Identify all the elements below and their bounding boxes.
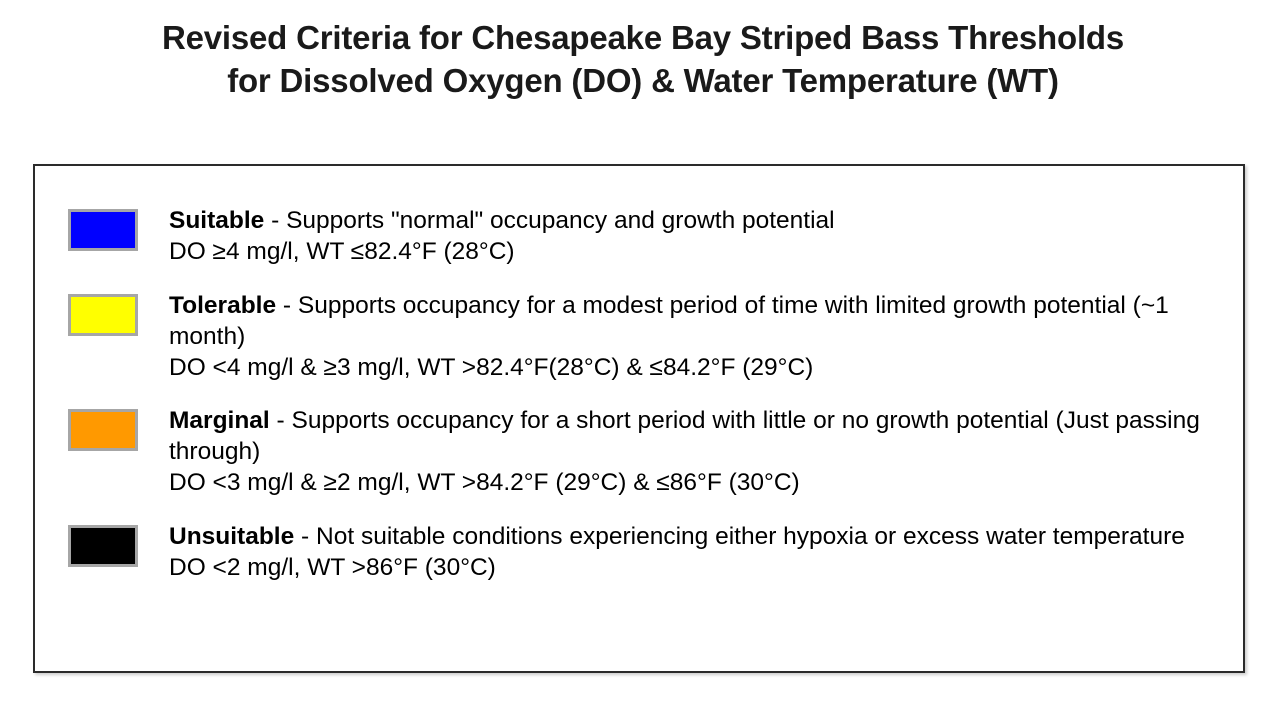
legend-condition-tolerable: DO <4 mg/l & ≥3 mg/l, WT >82.4°F(28°C) &… [169,352,1229,383]
legend-item-text-unsuitable: Unsuitable - Not suitable conditions exp… [169,521,1229,583]
legend-description-unsuitable: Unsuitable - Not suitable conditions exp… [169,521,1229,552]
legend-condition-unsuitable: DO <2 mg/l, WT >86°F (30°C) [169,552,1229,583]
legend-desc-text-unsuitable: Not suitable conditions experiencing eit… [316,523,1185,550]
legend-panel: Suitable - Supports "normal" occupancy a… [33,164,1245,673]
legend-separator-unsuitable: - [294,523,316,550]
page-title: Revised Criteria for Chesapeake Bay Stri… [0,16,1286,102]
legend-condition-marginal: DO <3 mg/l & ≥2 mg/l, WT >84.2°F (29°C) … [169,467,1229,498]
color-swatch-unsuitable [68,525,138,567]
legend-separator-suitable: - [264,207,286,234]
legend-desc-text-suitable: Supports "normal" occupancy and growth p… [286,207,835,234]
page-title-line-1: Revised Criteria for Chesapeake Bay Stri… [0,16,1286,59]
legend-item-text-marginal: Marginal - Supports occupancy for a shor… [169,405,1229,498]
legend-separator-marginal: - [270,407,292,434]
legend-list: Suitable - Supports "normal" occupancy a… [35,166,1243,671]
page-title-line-2: for Dissolved Oxygen (DO) & Water Temper… [0,59,1286,102]
legend-term-suitable: Suitable [169,207,264,234]
legend-description-tolerable: Tolerable - Supports occupancy for a mod… [169,290,1229,352]
legend-desc-text-marginal: Supports occupancy for a short period wi… [169,407,1200,465]
legend-term-unsuitable: Unsuitable [169,523,294,550]
legend-desc-text-tolerable: Supports occupancy for a modest period o… [169,292,1169,350]
legend-item-text-tolerable: Tolerable - Supports occupancy for a mod… [169,290,1229,383]
legend-separator-tolerable: - [276,292,298,319]
legend-description-suitable: Suitable - Supports "normal" occupancy a… [169,205,1229,236]
color-swatch-marginal [68,409,138,451]
legend-description-marginal: Marginal - Supports occupancy for a shor… [169,405,1229,467]
legend-term-tolerable: Tolerable [169,292,276,319]
legend-item-text-suitable: Suitable - Supports "normal" occupancy a… [169,205,1229,267]
color-swatch-suitable [68,209,138,251]
color-swatch-tolerable [68,294,138,336]
legend-condition-suitable: DO ≥4 mg/l, WT ≤82.4°F (28°C) [169,236,1229,267]
legend-term-marginal: Marginal [169,407,270,434]
